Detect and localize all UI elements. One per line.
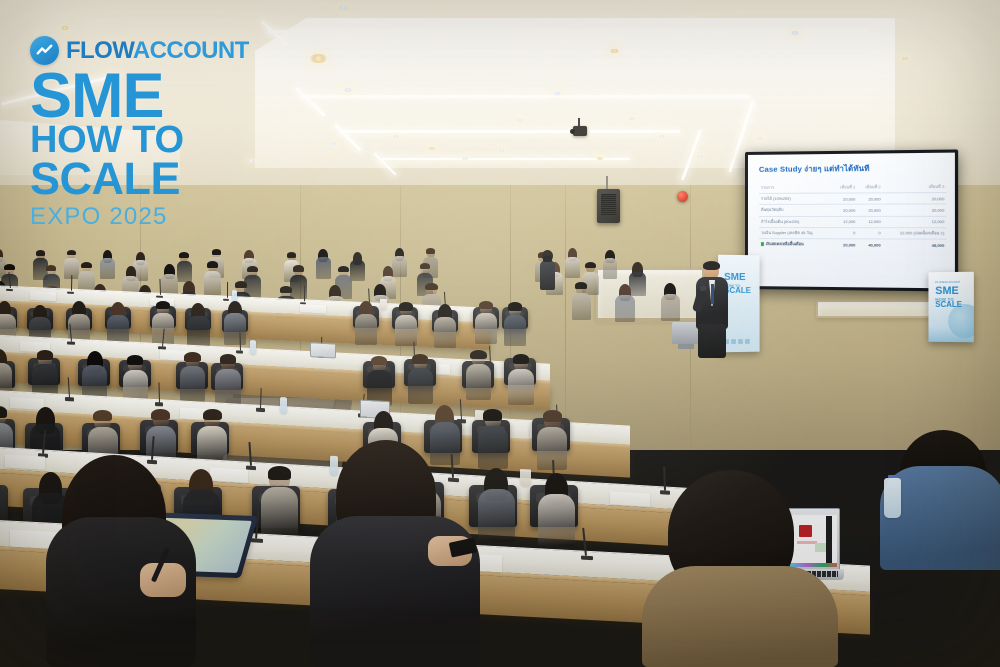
audience-torso [177, 261, 192, 282]
audience-hair [156, 301, 170, 309]
audience-member [505, 303, 525, 345]
audience-hair [483, 409, 502, 420]
slide-table-row: วงเงิน Supplier (เครดิต 45 วัน)0012,000 … [759, 227, 946, 239]
audience-member [356, 302, 376, 344]
audience-torso [180, 366, 205, 402]
ceiling-downlight [310, 54, 327, 63]
presenter [694, 262, 730, 358]
event-branding-overlay: FLOWACCOUNT SME HOW TO SCALE EXPO 2025 [30, 36, 290, 231]
ceiling-downlight [554, 92, 561, 96]
audience-torso [538, 494, 575, 547]
audience-torso [100, 258, 115, 279]
desk-microphone-base [581, 555, 593, 560]
audience-hair [513, 354, 529, 364]
audience-member [467, 351, 490, 400]
desk-microphone-base [236, 350, 244, 353]
desk-microphone [304, 286, 305, 302]
audience-hair [127, 355, 143, 365]
desk-microphone-base [65, 397, 74, 401]
audience-member [177, 253, 191, 282]
audience-hair [203, 409, 222, 420]
col-m2: เดือนที่ 2 [857, 182, 882, 193]
audience-torso [572, 293, 591, 320]
audience-member [435, 305, 455, 347]
fire-alarm-bell-icon [677, 191, 688, 202]
foreground-attendee-center [300, 440, 490, 667]
slide-cell-m2: 20,000 [857, 204, 882, 215]
audience-member [188, 304, 208, 346]
audience-hair [338, 266, 349, 272]
audience-hair [151, 409, 170, 420]
audience-torso [615, 295, 634, 322]
audience-member [603, 251, 617, 280]
slide-cell-m1: 20,000 [832, 193, 857, 204]
audience-torso [475, 313, 497, 344]
event-photographer [537, 250, 559, 300]
speaker-mount [606, 176, 608, 190]
side-banner-logo: FLOWACCOUNT [935, 280, 960, 284]
audience-hair [207, 261, 218, 267]
audience-member [262, 467, 296, 538]
slide-surface: Case Study ง่ายๆ แต่ทำได้ทันที รายการ เด… [748, 153, 955, 289]
desk-microphone [227, 282, 228, 298]
audience-torso [661, 294, 680, 321]
audience-hair [235, 281, 247, 288]
slide-table: รายการ เดือนที่ 1 เดือนที่ 2 เดือนที่ 3 … [759, 182, 946, 250]
desk-microphone-base [6, 289, 13, 292]
slide-cell-label: รายได้ (100x200) [759, 193, 832, 205]
audience-member [316, 250, 330, 279]
audience-member [83, 352, 106, 401]
col-m3: เดือนที่ 3 [883, 182, 947, 193]
security-camera-icon [573, 126, 587, 136]
audience-member [351, 252, 365, 281]
side-banner-sme: SME [935, 286, 958, 297]
audience-torso [355, 314, 377, 345]
slide-cell-m3: 12,000 (ปลดล็อกเดือน 1) [883, 227, 947, 239]
slide-cell-m3: 12,000 [883, 216, 947, 228]
audience-hair [470, 350, 486, 360]
slide-total-m3: 48,000 [883, 239, 947, 250]
audience-hair [371, 356, 387, 366]
headline-sme: SME [30, 71, 290, 123]
audience-hair [280, 286, 292, 293]
water-bottle [884, 478, 901, 518]
audience-torso [261, 487, 298, 540]
audience-hair [184, 352, 200, 362]
desk-microphone-base [67, 341, 75, 344]
laptop [310, 342, 336, 358]
slide-cell-m2: 0 [857, 227, 882, 238]
audience-hair [508, 302, 522, 310]
desk-paper [300, 304, 326, 313]
audience-member [409, 355, 432, 404]
audience-hair [212, 249, 221, 255]
slide-cell-m3: 20,000 [883, 204, 947, 216]
audience-torso [603, 258, 618, 279]
slide-cell-m2: 12,000 [857, 216, 882, 227]
audience-torso [408, 368, 433, 404]
projection-screen: Case Study ง่ายๆ แต่ทำได้ทันที รายการ เด… [745, 149, 958, 291]
audience-member [476, 301, 496, 343]
slide-cell-label: ต้นทุนวัตถุดิบ [759, 205, 832, 216]
desk-microphone-base [223, 298, 230, 301]
slide-table-row: ต้นทุนวัตถุดิบ20,00020,00020,000 [759, 204, 946, 216]
wordmark-account: ACCOUNT [133, 37, 249, 64]
water-bottle [280, 397, 287, 413]
slide-cell-m1: 20,000 [832, 205, 857, 216]
audience-torso [508, 369, 533, 405]
audience-hair [220, 354, 236, 364]
audience-member [661, 284, 679, 321]
audience-torso [215, 369, 240, 405]
drink-cup [520, 469, 531, 487]
slide-table-total-row: เงินสดคงเหลือสิ้นเดือน20,00040,00048,000 [759, 238, 946, 250]
audience-hair [287, 252, 296, 258]
wall-speaker-icon [597, 189, 620, 223]
slide-table-row: รายได้ (100x200)20,00020,00020,000 [759, 193, 946, 205]
drink-cup [380, 299, 387, 310]
foreground-attendee-right [640, 470, 850, 667]
audience-hair [585, 262, 596, 268]
audience-member [205, 262, 220, 294]
headline-expo-year: EXPO 2025 [30, 204, 290, 230]
desk-paper [30, 291, 56, 301]
audience-hair [425, 283, 437, 290]
slide-total-label: เงินสดคงเหลือสิ้นเดือน [759, 238, 832, 249]
audience-hair [179, 252, 188, 258]
slide-title: Case Study ง่ายๆ แต่ทำได้ทันที [759, 162, 946, 176]
slide-cell-m1: 0 [832, 227, 857, 238]
audience-member [100, 250, 114, 279]
audience-member [395, 303, 415, 345]
slide-cell-m2: 20,000 [857, 193, 882, 205]
slide-cell-label: วงเงิน Supplier (เครดิต 45 วัน) [759, 227, 832, 238]
audience-torso [565, 257, 580, 278]
ceiling-downlight [339, 6, 348, 11]
slide-cell-m1: 12,000 [832, 216, 857, 227]
flowaccount-wordmark: FLOWACCOUNT [66, 39, 249, 63]
audience-member [509, 355, 532, 404]
microphone-icon [700, 286, 706, 291]
audience-member [216, 355, 239, 404]
audience-member [572, 283, 590, 320]
ceiling-downlight [610, 49, 619, 54]
audience-member [181, 353, 204, 402]
col-label: รายการ [759, 182, 832, 193]
audience-hair [93, 410, 112, 421]
audience-hair [426, 248, 435, 254]
ceiling-downlight [61, 26, 69, 30]
slide-cell-m3: 20,000 [883, 193, 947, 205]
audience-hair [399, 302, 413, 310]
desk-microphone-base [251, 538, 263, 543]
audience-member [616, 285, 634, 322]
ceiling-downlight [902, 57, 908, 60]
audience-hair [81, 262, 92, 268]
slide-table-header: รายการ เดือนที่ 1 เดือนที่ 2 เดือนที่ 3 [759, 182, 946, 194]
slide-total-m2: 40,000 [857, 239, 882, 250]
audience-torso [504, 315, 526, 346]
foreground-attendee-left [20, 455, 220, 667]
audience-torso [434, 317, 456, 348]
audience-hair [46, 265, 57, 271]
desk-microphone-base [67, 291, 74, 294]
audience-torso [316, 257, 331, 278]
audience-member [368, 357, 391, 406]
audience-torso [224, 313, 246, 344]
slide-cell-label: กำไรเบื้องต้น (60x200) [759, 216, 832, 227]
audience-hair [412, 354, 428, 364]
audience-hair [247, 266, 258, 272]
audience-hair [575, 282, 587, 289]
green-check-icon [761, 242, 764, 245]
audience-hair [67, 250, 76, 256]
audience-hair [0, 406, 7, 417]
audience-hair [293, 265, 304, 271]
audience-torso [466, 364, 491, 400]
audience-torso [187, 316, 209, 347]
audience-member [108, 303, 128, 345]
audience-member [566, 249, 580, 278]
audience-hair [420, 263, 431, 269]
audience-hair [37, 350, 53, 360]
event-photo: Case Study ง่ายๆ แต่ทำได้ทันที รายการ เด… [0, 0, 1000, 667]
audience-hair [36, 250, 45, 256]
audience-member [540, 474, 574, 545]
wordmark-flow: FLOW [66, 37, 133, 64]
slide-table-row: กำไรเบื้องต้น (60x200)12,00012,00012,000 [759, 216, 946, 228]
desk-microphone-base [155, 402, 164, 406]
audience-torso [350, 260, 365, 281]
audience-hair [479, 301, 493, 309]
col-m1: เดือนที่ 1 [832, 182, 857, 193]
desk-microphone-base [256, 408, 265, 412]
audience-member [225, 302, 245, 344]
audience-hair [543, 410, 562, 421]
audience-torso [204, 271, 221, 295]
audience-hair [4, 264, 15, 270]
headline-scale: SCALE [30, 158, 290, 201]
slide-total-m1: 20,000 [832, 239, 857, 250]
audience-hair [268, 466, 292, 480]
water-bottle [250, 340, 256, 354]
